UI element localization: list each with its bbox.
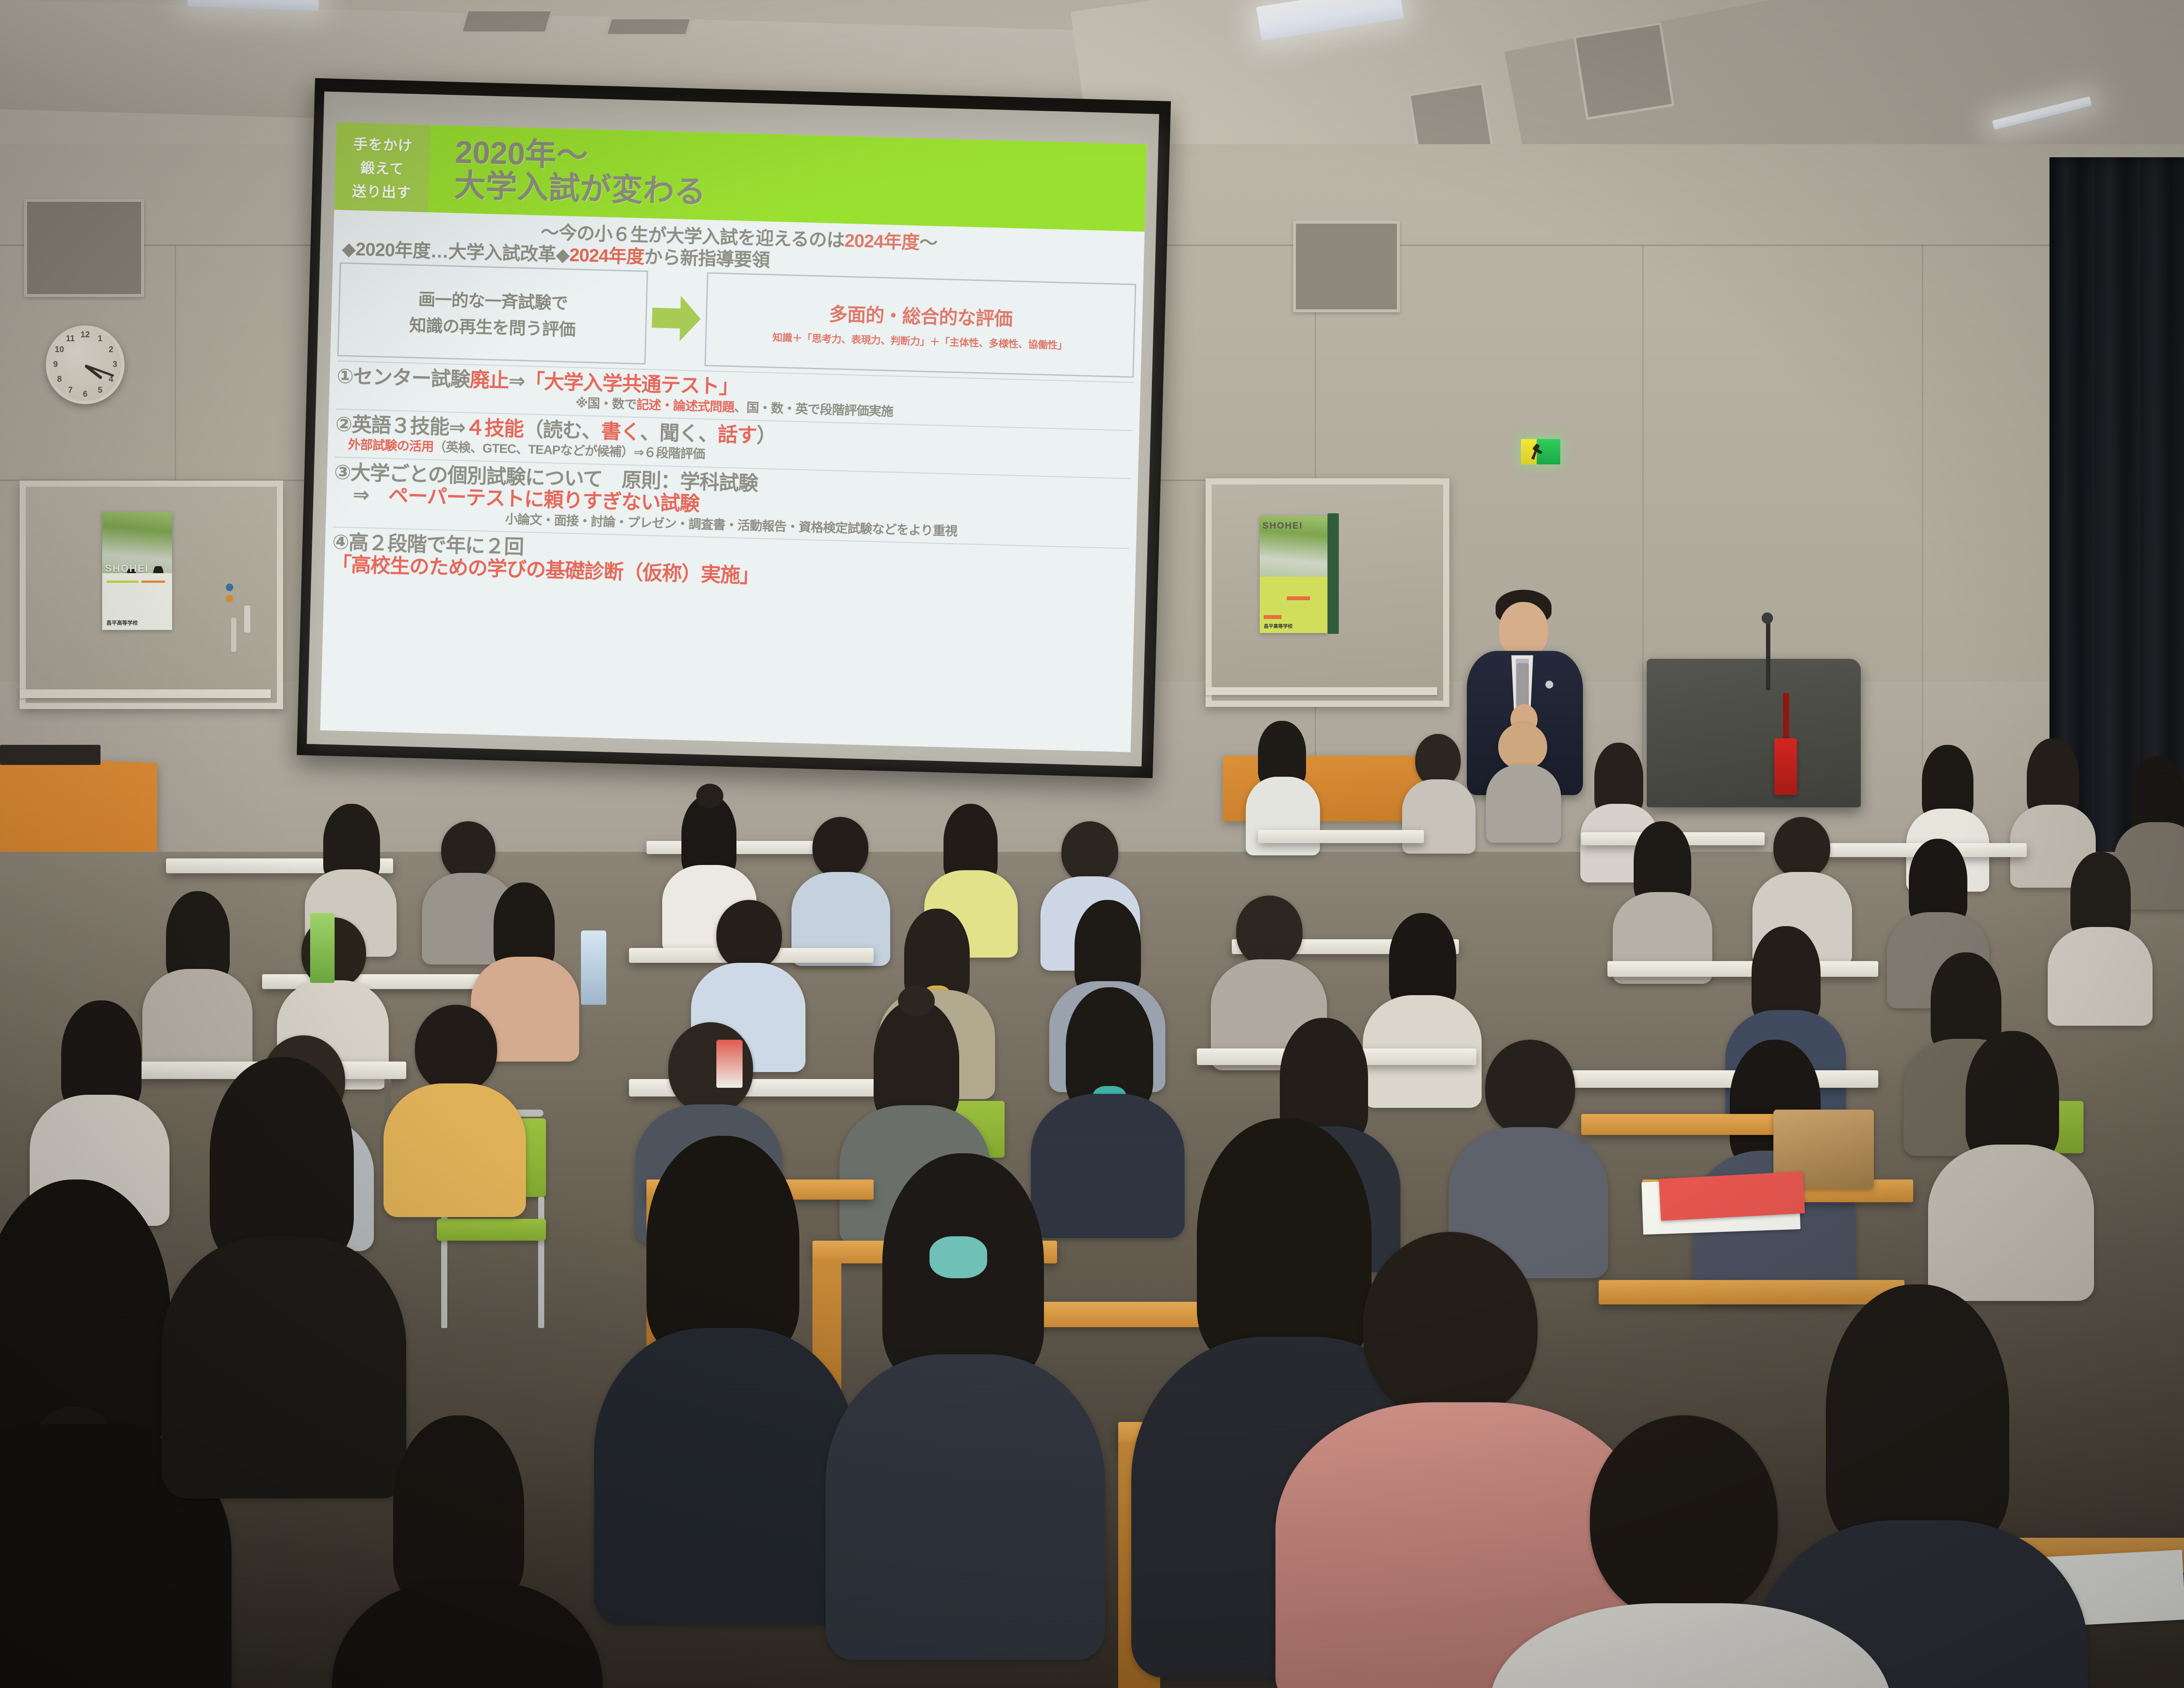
projection-screen: 手をかけ 鍛えて 送り出す 2020年～ 大学入試が変わる ～今の小６生が大学入… xyxy=(297,78,1171,778)
item-1-plain-1: センター試験 xyxy=(353,365,470,391)
head xyxy=(1773,817,1830,878)
presenter-head xyxy=(1499,602,1548,658)
poster-band xyxy=(1287,596,1310,600)
hair xyxy=(210,1057,354,1263)
item-2-hot-2: 書く xyxy=(601,420,640,443)
head xyxy=(1236,896,1303,966)
water-bottle[interactable] xyxy=(310,913,335,983)
clock-number: 3 xyxy=(113,360,117,370)
motto-line-2: 鍛えて xyxy=(360,156,405,179)
clock-number: 6 xyxy=(83,390,88,399)
item-1-sub-plain-2: 、国・数・英で段階評価実施 xyxy=(734,401,893,419)
whiteboard-marker[interactable] xyxy=(244,605,250,633)
left-poster: SHOHEI 昌平高等学校 xyxy=(102,512,172,630)
torso xyxy=(1486,765,1561,843)
fire-extinguisher xyxy=(1774,738,1797,795)
new-headline: 多面的・総合的な評価 xyxy=(829,299,1013,331)
ceiling-vent-4 xyxy=(604,17,693,37)
hair-bun xyxy=(696,784,723,808)
item-2-sub-hot-1: 外部試験の活用 xyxy=(348,438,434,454)
right-poster: SHOHEI 昌平高等学校 xyxy=(1260,516,1327,633)
poster-school-name: 昌平高等学校 xyxy=(107,619,138,626)
item-2-hot-3: 話す xyxy=(717,423,757,446)
item-2-plain-4: ） xyxy=(756,424,776,447)
chair-frame xyxy=(538,1197,544,1328)
wall-vent-left xyxy=(24,199,144,297)
hair-bun xyxy=(898,986,935,1016)
right-arrow-icon xyxy=(651,295,702,342)
desk xyxy=(262,974,489,989)
item-1-number: ① xyxy=(336,364,353,387)
arrow-wrap xyxy=(646,270,707,366)
lecture-hall-photo: 12 1 2 3 4 5 6 7 8 9 10 11 手をかけ 鍛えて xyxy=(0,0,2184,1688)
torso xyxy=(1246,777,1320,855)
head xyxy=(1415,734,1461,786)
presenter-lapel-pin xyxy=(1545,681,1553,688)
head xyxy=(1061,821,1118,882)
torso xyxy=(594,1328,856,1625)
lead-suffix: ～ xyxy=(919,232,937,253)
hair xyxy=(1197,1118,1372,1363)
lectern-top-tray xyxy=(0,745,100,765)
hair xyxy=(874,1000,959,1122)
poster-band xyxy=(1264,615,1281,619)
slide-motto-block: 手をかけ 鍛えて 送り出す xyxy=(334,122,430,212)
poster-brand-text: SHOHEI xyxy=(105,563,149,574)
hair-clip-floral xyxy=(930,1236,987,1278)
hair xyxy=(646,1136,799,1354)
right-board-green-strip xyxy=(1327,513,1339,634)
head xyxy=(415,1005,497,1092)
chair-seat[interactable] xyxy=(437,1219,546,1241)
desk xyxy=(1572,1070,1878,1088)
torso xyxy=(1928,1145,2094,1301)
water-bottle[interactable] xyxy=(581,930,606,1005)
clock-number: 7 xyxy=(68,386,73,395)
motto-line-1: 手をかけ xyxy=(353,132,413,155)
item-1-plain-2: ⇒ xyxy=(508,369,525,392)
head xyxy=(812,817,868,878)
item-1-sub-hot-1: 記述・論述式問題 xyxy=(636,398,735,414)
clock-number: 8 xyxy=(57,375,62,384)
exit-sign-pictogram-panel xyxy=(1521,439,1537,464)
head xyxy=(1590,1415,1778,1621)
item-2-plain-2: （読む、 xyxy=(523,418,601,443)
wall-vent-right xyxy=(1293,221,1400,312)
torso xyxy=(2048,927,2153,1026)
head xyxy=(1485,1040,1575,1136)
emergency-exit-sign xyxy=(1521,439,1560,464)
microphone-stand xyxy=(1766,620,1770,690)
clock-number: 12 xyxy=(80,330,90,340)
desk xyxy=(646,841,830,854)
old-line-2: 知識の再生を問う評価 xyxy=(409,312,575,341)
whiteboard-magnet-orange[interactable] xyxy=(226,595,233,602)
head xyxy=(1498,723,1547,769)
old-evaluation-box: 画一的な一斉試験で 知識の再生を問う評価 xyxy=(337,262,648,364)
clock-number: 2 xyxy=(109,345,114,355)
hair xyxy=(1966,1031,2059,1160)
hair xyxy=(1389,913,1456,1008)
whiteboard-magnet-blue[interactable] xyxy=(226,584,233,591)
drink-can[interactable] xyxy=(716,1040,743,1088)
item-2-plain-1: 英語３技能⇒ xyxy=(352,413,466,439)
torso xyxy=(142,969,252,1074)
wall-seam-vertical-3 xyxy=(1642,245,1644,847)
wall-seam-vertical-1 xyxy=(175,245,176,481)
ceiling-vent-3 xyxy=(460,9,554,34)
reform-part-2: から新指導要領 xyxy=(644,246,770,270)
new-evaluation-box: 多面的・総合的な評価 知識＋「思考力、表現力、判断力」＋「主体性、多様性、協働性… xyxy=(705,272,1136,378)
hair xyxy=(393,1415,524,1603)
hair xyxy=(1826,1284,2009,1546)
item-1-hot-2: 「大学入学共通テスト」 xyxy=(525,370,739,398)
covered-piano xyxy=(1647,659,1861,807)
hair xyxy=(61,1000,142,1110)
left-whiteboard-rail xyxy=(20,689,271,698)
clock-number: 9 xyxy=(53,360,58,370)
new-detail: 知識＋「思考力、表現力、判断力」＋「主体性、多様性、協働性」 xyxy=(772,329,1068,352)
hair xyxy=(1909,839,1967,924)
right-whiteboard: SHOHEI 昌平高等学校 xyxy=(1206,478,1449,707)
clock-number: 5 xyxy=(98,386,103,395)
poster-school-name: 昌平高等学校 xyxy=(1264,623,1292,630)
clock-number: 1 xyxy=(98,334,103,344)
item-4-number: ④ xyxy=(332,531,349,554)
torso xyxy=(1031,1094,1185,1238)
poster-brand-text: SHOHEI xyxy=(1262,521,1303,531)
hair xyxy=(1075,900,1141,994)
motto-line-3: 送り出す xyxy=(352,180,411,202)
whiteboard-marker[interactable] xyxy=(231,618,236,652)
desk xyxy=(1607,961,1878,977)
presenter-microphone xyxy=(1517,663,1529,710)
hair xyxy=(1752,926,1821,1024)
ceiling-vent-1 xyxy=(1573,22,1675,120)
presentation-slide: 手をかけ 鍛えて 送り出す 2020年～ 大学入試が変わる ～今の小６生が大学入… xyxy=(320,122,1147,752)
extinguisher-neck xyxy=(1783,693,1789,741)
old-line-1: 画一的な一斉試験で xyxy=(418,286,568,315)
clock-number: 10 xyxy=(55,345,64,355)
torso xyxy=(384,1083,526,1217)
clock-number: 11 xyxy=(66,334,75,344)
desk xyxy=(1599,1280,1904,1304)
item-2-hot-1: ４技能 xyxy=(465,416,524,440)
hair xyxy=(2070,852,2131,939)
lead-highlight: 2024年度 xyxy=(844,230,920,253)
slide-body: ～今の小６生が大学入試を迎えるのは2024年度～ ◆2020年度…大学入試改革◆… xyxy=(324,210,1144,601)
item-2-plain-3: 、聞く、 xyxy=(639,421,718,446)
head xyxy=(441,821,495,879)
poster-band xyxy=(107,581,139,583)
item-1-sub-plain-1: ※国・数で xyxy=(575,396,636,412)
item-2-number: ② xyxy=(335,412,352,436)
desk xyxy=(1258,830,1424,843)
wall-seam-vertical-4 xyxy=(1922,245,1923,847)
poster-band xyxy=(142,581,165,583)
head xyxy=(1363,1232,1538,1420)
wall-clock: 12 1 2 3 4 5 6 7 8 9 10 11 xyxy=(46,325,124,404)
item-3-arrow: ⇒ xyxy=(352,483,389,507)
microphone-head-icon xyxy=(1762,612,1773,624)
right-whiteboard-rail xyxy=(1206,687,1437,695)
torso xyxy=(826,1354,1105,1660)
torso xyxy=(162,1236,406,1498)
head xyxy=(716,900,782,970)
item-1-hot-1: 廃止 xyxy=(470,368,509,392)
comparison-row: 画一的な一斉試験で 知識の再生を問う評価 多面的・総合的な評価 知識＋「思考力、… xyxy=(337,262,1136,377)
left-whiteboard: SHOHEI 昌平高等学校 xyxy=(20,481,283,709)
item-3-number: ③ xyxy=(334,460,351,484)
handout-sheet[interactable] xyxy=(1659,1171,1805,1221)
reform-highlight: 2024年度 xyxy=(569,244,645,267)
